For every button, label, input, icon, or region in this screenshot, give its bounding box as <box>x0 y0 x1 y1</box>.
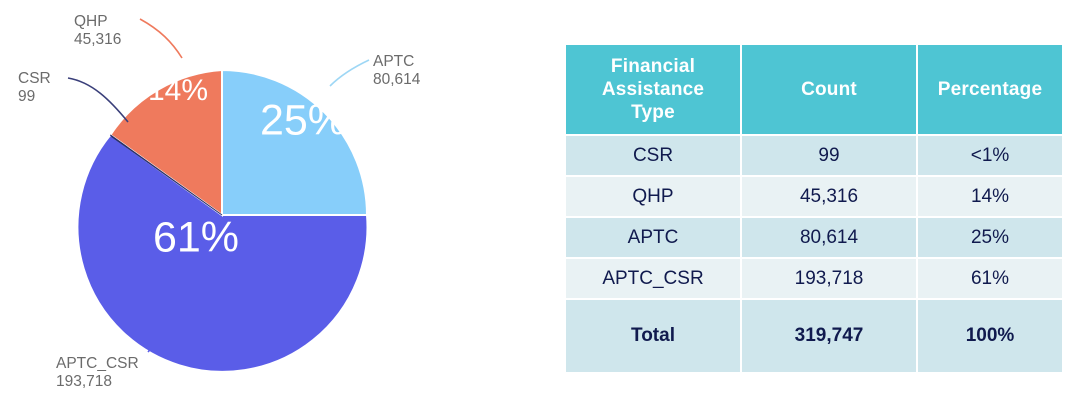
table-row: CSR 99 <1% <box>566 136 1062 175</box>
callout-aptc-csr: APTC_CSR 193,718 <box>56 355 139 391</box>
callout-csr: CSR 99 <box>18 70 51 106</box>
table-total-row: Total 319,747 100% <box>566 300 1062 372</box>
table-header-type-line1: Financial <box>566 55 740 78</box>
cell-total-percentage: 100% <box>918 300 1062 372</box>
cell-count: 193,718 <box>742 259 916 298</box>
callout-qhp: QHP 45,316 <box>74 13 121 49</box>
callout-aptc: APTC 80,614 <box>373 53 420 89</box>
leader-line-csr <box>68 78 128 122</box>
callout-aptc-csr-value: 193,718 <box>56 373 139 391</box>
callout-aptc-csr-name: APTC_CSR <box>56 355 139 373</box>
leader-line-qhp <box>140 19 182 58</box>
pie-chart-panel: 25% 61% 14% QHP 45,316 CSR 99 APTC 80,61… <box>0 0 540 404</box>
table-row: QHP 45,316 14% <box>566 177 1062 216</box>
table-header-row: Financial Assistance Type Count Percenta… <box>566 45 1062 134</box>
cell-type: CSR <box>566 136 740 175</box>
table-header-type-line3: Type <box>566 101 740 124</box>
cell-count: 45,316 <box>742 177 916 216</box>
callout-csr-name: CSR <box>18 70 51 88</box>
table-row: APTC_CSR 193,718 61% <box>566 259 1062 298</box>
table-header-type: Financial Assistance Type <box>566 45 740 134</box>
pie-chart-svg: 25% 61% 14% <box>0 0 540 404</box>
callout-qhp-value: 45,316 <box>74 31 121 49</box>
callout-qhp-name: QHP <box>74 13 121 31</box>
callout-csr-value: 99 <box>18 88 51 106</box>
pie-label-aptc-percent: 25% <box>260 96 346 144</box>
table-header-percentage: Percentage <box>918 45 1062 134</box>
cell-type: APTC <box>566 218 740 257</box>
summary-table-panel: Financial Assistance Type Count Percenta… <box>564 43 1060 374</box>
cell-percentage: 61% <box>918 259 1062 298</box>
cell-percentage: 14% <box>918 177 1062 216</box>
callout-aptc-value: 80,614 <box>373 71 420 89</box>
leader-line-aptc <box>330 60 369 86</box>
financial-assistance-table: Financial Assistance Type Count Percenta… <box>564 43 1064 374</box>
callout-aptc-name: APTC <box>373 53 420 71</box>
cell-count: 99 <box>742 136 916 175</box>
cell-percentage: <1% <box>918 136 1062 175</box>
pie-label-aptc-csr-percent: 61% <box>153 213 239 261</box>
cell-count: 80,614 <box>742 218 916 257</box>
cell-total-count: 319,747 <box>742 300 916 372</box>
cell-total-label: Total <box>566 300 740 372</box>
pie-label-qhp-percent: 14% <box>148 74 208 107</box>
table-header-count: Count <box>742 45 916 134</box>
table-row: APTC 80,614 25% <box>566 218 1062 257</box>
table-header-type-line2: Assistance <box>566 78 740 101</box>
cell-type: APTC_CSR <box>566 259 740 298</box>
cell-percentage: 25% <box>918 218 1062 257</box>
cell-type: QHP <box>566 177 740 216</box>
